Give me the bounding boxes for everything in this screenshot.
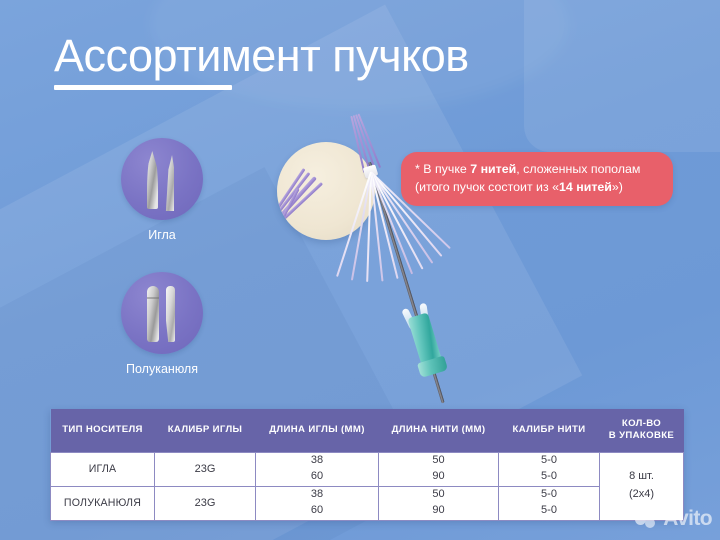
page-title: Ассортимент пучков — [54, 33, 469, 78]
cell-thread-length-b: 90 — [379, 469, 498, 485]
table-row: ИГЛА 23G 38 60 50 90 5-0 — [51, 452, 684, 486]
specification-table: ТИП НОСИТЕЛЯ КАЛИБР ИГЛЫ ДЛИНА ИГЛЫ (ММ)… — [50, 409, 684, 521]
badge-cannula-disc — [121, 272, 203, 354]
badge-needle-label: Игла — [121, 228, 203, 242]
slide-canvas: Ассортимент пучков Игла Полуканюля — [0, 0, 720, 540]
badge-needle: Игла — [121, 138, 203, 242]
cell-pack-qty-line1: 8 шт. — [600, 468, 683, 486]
cell-thread-length-a: 50 — [379, 453, 498, 469]
badge-needle-disc — [121, 138, 203, 220]
cell-thread-gauge-b: 5-0 — [499, 469, 599, 485]
table-header-pack-qty: КОЛ-ВО В УПАКОВКЕ — [600, 409, 684, 452]
table-header-row: ТИП НОСИТЕЛЯ КАЛИБР ИГЛЫ ДЛИНА ИГЛЫ (ММ)… — [51, 409, 684, 452]
callout-line-2-pre: (итого пучок состоит из « — [415, 180, 559, 194]
table-header-pack-qty-line1: КОЛ-ВО — [602, 418, 682, 430]
cell-thread-gauge: 5-0 5-0 — [499, 486, 600, 520]
title-underline — [54, 85, 232, 90]
cell-thread-length: 50 90 — [379, 452, 499, 486]
cell-needle-gauge: 23G — [155, 486, 256, 520]
cell-needle-length-b: 60 — [256, 469, 378, 485]
callout-note: * В пучке 7 нитей, сложенных пополам (ит… — [401, 152, 673, 206]
cell-needle-length: 38 60 — [256, 486, 379, 520]
cell-needle-length: 38 60 — [256, 452, 379, 486]
callout-line-1-post: , сложенных пополам — [516, 162, 640, 176]
cell-pack-qty-line2: (2x4) — [600, 486, 683, 504]
table-header-pack-qty-line2: В УПАКОВКЕ — [602, 430, 682, 442]
table-header-needle-length: ДЛИНА ИГЛЫ (ММ) — [256, 409, 379, 452]
needle-hub — [401, 302, 449, 381]
background-corner-panel — [524, 0, 720, 152]
cell-needle-length-a: 38 — [256, 453, 378, 469]
cell-thread-gauge-a: 5-0 — [499, 487, 599, 503]
cell-thread-gauge-a: 5-0 — [499, 453, 599, 469]
cell-thread-length: 50 90 — [379, 486, 499, 520]
needle-tip-secondary-icon — [165, 155, 174, 211]
page-title-block: Ассортимент пучков — [54, 33, 469, 90]
cell-thread-gauge-b: 5-0 — [499, 503, 599, 519]
callout-line-1: * В пучке 7 нитей, сложенных пополам — [415, 161, 659, 179]
cell-carrier: ИГЛА — [51, 452, 155, 486]
blunt-cannula-icon — [147, 286, 159, 342]
callout-line-2-post: ») — [612, 180, 623, 194]
cell-pack-qty: 8 шт. (2x4) — [600, 452, 684, 520]
cell-thread-length-b: 90 — [379, 503, 498, 519]
cell-carrier: ПОЛУКАНЮЛЯ — [51, 486, 155, 520]
callout-line-1-bold: 7 нитей — [470, 162, 516, 176]
needle-tip-icon — [147, 151, 158, 209]
table-header-thread-length: ДЛИНА НИТИ (ММ) — [379, 409, 499, 452]
callout-line-2: (итого пучок состоит из «14 нитей») — [415, 179, 659, 197]
table-header-thread-gauge: КАЛИБР НИТИ — [499, 409, 600, 452]
cell-thread-gauge: 5-0 5-0 — [499, 452, 600, 486]
badge-cannula-label: Полуканюля — [101, 362, 223, 376]
callout-line-2-bold: 14 нитей — [559, 180, 612, 194]
blunt-cannula-secondary-icon — [166, 286, 175, 342]
cell-needle-length-a: 38 — [256, 487, 378, 503]
badge-cannula: Полуканюля — [121, 272, 203, 376]
table-row: ПОЛУКАНЮЛЯ 23G 38 60 50 90 5-0 — [51, 486, 684, 520]
table-header-needle-gauge: КАЛИБР ИГЛЫ — [155, 409, 256, 452]
cell-needle-length-b: 60 — [256, 503, 378, 519]
callout-line-1-pre: * В пучке — [415, 162, 470, 176]
thread-bundle-top — [348, 112, 380, 172]
cell-needle-gauge: 23G — [155, 452, 256, 486]
table-header-carrier: ТИП НОСИТЕЛЯ — [51, 409, 155, 452]
cell-thread-length-a: 50 — [379, 487, 498, 503]
